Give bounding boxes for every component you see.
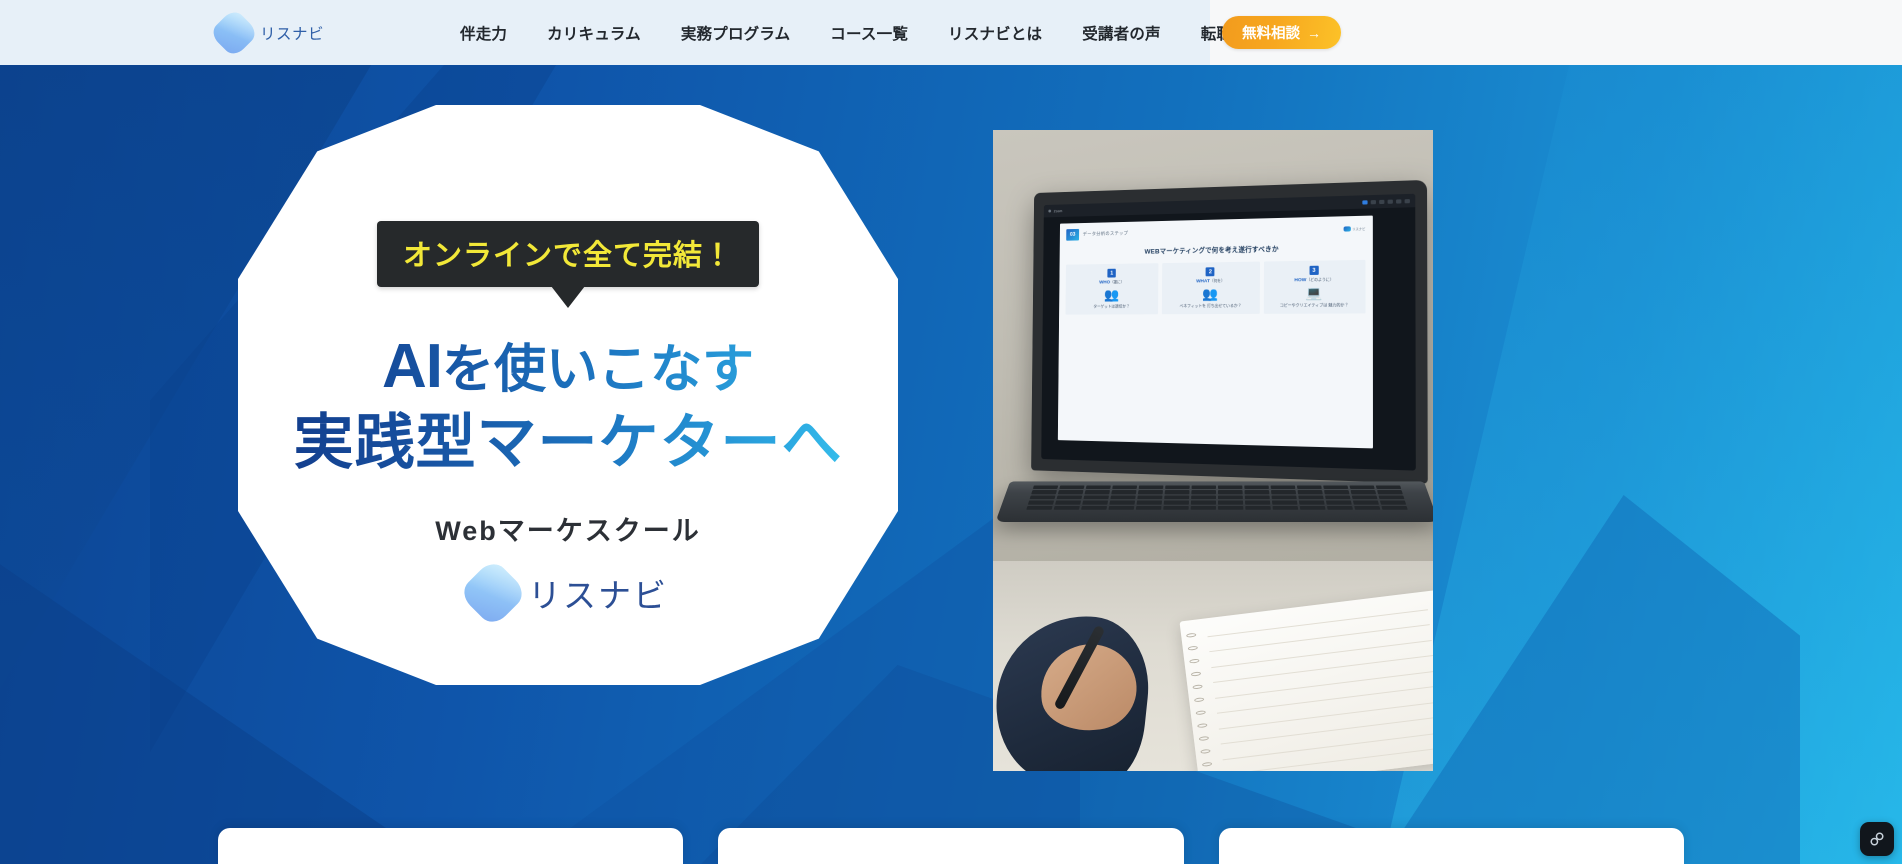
video-call-toolbar: Zoom bbox=[1044, 194, 1415, 218]
site-header: リスナビ 伴走力 カリキュラム 実務プログラム コース一覧 リスナビとは 受講者… bbox=[0, 0, 1902, 65]
toolbar-chip-icon bbox=[1362, 200, 1367, 204]
headline-ai-accent: AI bbox=[382, 332, 442, 401]
main-nav: 伴走力 カリキュラム 実務プログラム コース一覧 リスナビとは 受講者の声 転職… bbox=[440, 0, 1284, 65]
hero-headline: AIを使いこなす 実践型マーケターへ bbox=[294, 331, 843, 479]
nav-item-1[interactable]: カリキュラム bbox=[527, 22, 661, 44]
laptop-screen: Zoom 03 データ分析のステップ bbox=[1041, 194, 1416, 471]
laptop-lid: Zoom 03 データ分析のステップ bbox=[1031, 180, 1428, 484]
hero-subtitle: Webマーケスクール bbox=[435, 509, 701, 548]
bottom-card-3[interactable] bbox=[1219, 828, 1684, 864]
toolbar-chip-icon bbox=[1396, 199, 1401, 203]
column-label-main: HOW bbox=[1294, 278, 1306, 283]
online-badge: オンラインで全て完結！ bbox=[377, 221, 759, 287]
column-note: ターゲットは適切か？ bbox=[1093, 304, 1129, 309]
arrow-right-icon: → bbox=[1307, 25, 1321, 41]
slide-title: WEBマーケティングで何を考え遂行すべきか bbox=[1066, 241, 1365, 257]
column-note: ベネフィットを 打ち出せているか？ bbox=[1180, 303, 1242, 309]
column-label: WHAT（何を） bbox=[1196, 279, 1225, 284]
column-label-main: WHO bbox=[1099, 280, 1110, 285]
laptop-base bbox=[995, 481, 1433, 522]
free-consultation-button[interactable]: 無料相談 → bbox=[1222, 16, 1341, 49]
laptop-keyboard bbox=[1026, 485, 1408, 509]
bottom-card-2[interactable] bbox=[718, 828, 1183, 864]
keyboard-row bbox=[1026, 506, 1408, 510]
headline-line-1-rest: を使いこなす bbox=[442, 341, 754, 399]
slide-logo: リスナビ bbox=[1343, 225, 1365, 231]
column-label-sub: （どのように） bbox=[1306, 278, 1333, 282]
column-label: WHO（誰に） bbox=[1099, 280, 1124, 285]
nav-item-5[interactable]: 受講者の声 bbox=[1062, 22, 1181, 44]
presentation-slide: 03 データ分析のステップ リスナビ WEBマーケティングで何を考え遂行すべきか… bbox=[1058, 216, 1373, 449]
monitor-person-icon: 💻 bbox=[1306, 286, 1323, 299]
notebook-lines bbox=[1207, 609, 1433, 771]
floating-link-widget[interactable] bbox=[1860, 822, 1894, 856]
hero-copy-blob: オンラインで全て完結！ AIを使いこなす 実践型マーケターへ Webマーケスクー… bbox=[238, 105, 898, 685]
column-label-sub: （何を） bbox=[1210, 279, 1225, 283]
column-number: 3 bbox=[1309, 266, 1318, 275]
site-logo[interactable]: リスナビ bbox=[216, 15, 324, 51]
nav-item-4[interactable]: リスナビとは bbox=[928, 22, 1062, 44]
keyboard-row bbox=[1033, 485, 1402, 489]
keyboard-row bbox=[1030, 495, 1405, 499]
slide-logo-mark-icon bbox=[1343, 226, 1350, 231]
hero-photo: Zoom 03 データ分析のステップ bbox=[993, 130, 1433, 771]
column-note: コピーやクリエイティブは 魅力的か？ bbox=[1280, 302, 1349, 308]
slide-header: 03 データ分析のステップ リスナビ bbox=[1066, 222, 1365, 241]
nav-item-3[interactable]: コース一覧 bbox=[810, 22, 928, 44]
column-label-main: WHAT bbox=[1196, 279, 1210, 284]
toolbar-chip-icon bbox=[1379, 199, 1384, 203]
audience-search-icon: 👥 bbox=[1104, 288, 1119, 301]
toolbar-chip-icon bbox=[1371, 200, 1376, 204]
slide-kicker: データ分析のステップ bbox=[1083, 231, 1129, 238]
bottom-card-1[interactable] bbox=[218, 828, 683, 864]
headline-line-2: 実践型マーケターへ bbox=[294, 407, 843, 479]
people-idea-icon: 👥 bbox=[1202, 287, 1218, 300]
slide-columns: 1 WHO（誰に） 👥 ターゲットは適切か？ 2 WHAT（何を） 👥 ベネフィ… bbox=[1065, 260, 1365, 315]
notebook bbox=[1179, 590, 1433, 771]
slide-column-who: 1 WHO（誰に） 👥 ターゲットは適切か？ bbox=[1065, 263, 1158, 315]
hero-section: オンラインで全て完結！ AIを使いこなす 実践型マーケターへ Webマーケスクー… bbox=[0, 65, 1902, 864]
slide-logo-text: リスナビ bbox=[1352, 225, 1365, 230]
hero-brand-name: リスナビ bbox=[528, 569, 668, 617]
column-number: 1 bbox=[1108, 269, 1116, 278]
logo-text: リスナビ bbox=[260, 22, 324, 44]
slide-step-number: 03 bbox=[1066, 229, 1079, 241]
chain-link-icon bbox=[1868, 830, 1886, 848]
keyboard-row bbox=[1031, 490, 1403, 494]
slide-column-what: 2 WHAT（何を） 👥 ベネフィットを 打ち出せているか？ bbox=[1162, 262, 1259, 315]
hexagon-brand-mark-icon bbox=[458, 558, 529, 629]
toolbar-dot-icon bbox=[1048, 210, 1051, 213]
nav-item-2[interactable]: 実務プログラム bbox=[661, 22, 810, 44]
bottom-cards bbox=[0, 828, 1902, 864]
column-number: 2 bbox=[1206, 267, 1215, 276]
headline-line-1: AIを使いこなす bbox=[294, 331, 843, 403]
cta-label: 無料相談 bbox=[1242, 22, 1300, 43]
column-label-sub: （誰に） bbox=[1110, 280, 1124, 284]
toolbar-app-name: Zoom bbox=[1054, 209, 1063, 213]
page-root: リスナビ 伴走力 カリキュラム 実務プログラム コース一覧 リスナビとは 受講者… bbox=[0, 0, 1902, 864]
column-label: HOW（どのように） bbox=[1294, 278, 1333, 284]
slide-column-how: 3 HOW（どのように） 💻 コピーやクリエイティブは 魅力的か？ bbox=[1263, 260, 1365, 314]
hero-brand-lockup: リスナビ bbox=[468, 568, 668, 618]
hexagon-logo-mark-icon bbox=[209, 8, 260, 59]
toolbar-chip-icon bbox=[1388, 199, 1393, 203]
toolbar-chip-icon bbox=[1405, 199, 1410, 203]
nav-item-0[interactable]: 伴走力 bbox=[440, 22, 527, 44]
keyboard-row bbox=[1028, 501, 1406, 505]
